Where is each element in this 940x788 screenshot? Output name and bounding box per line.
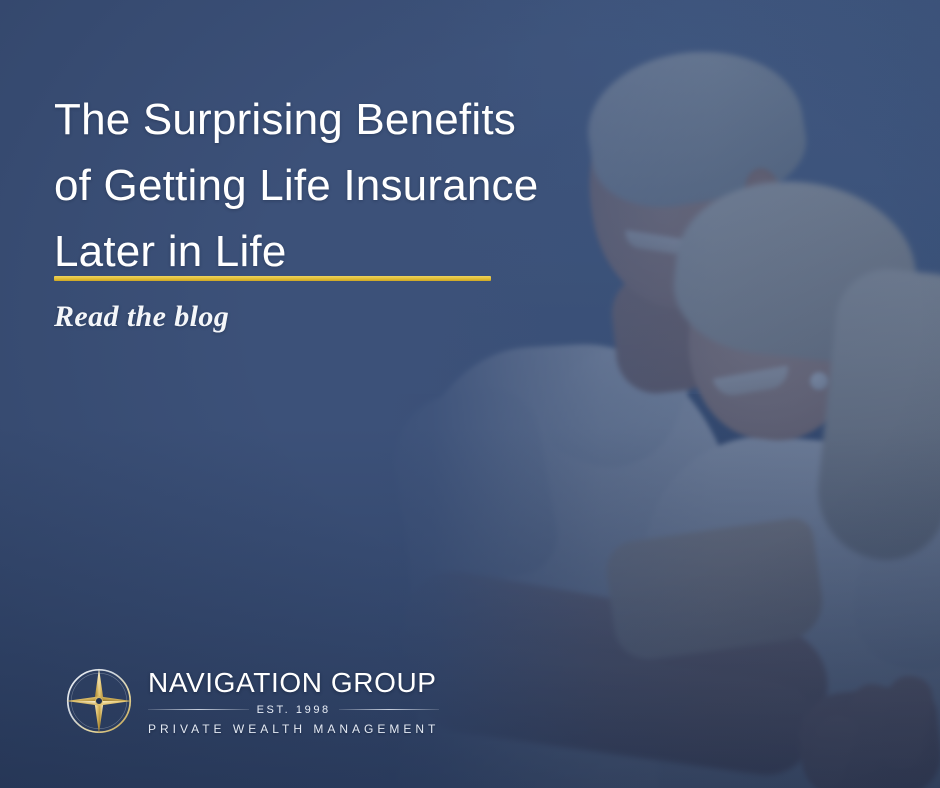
page-title: The Surprising Benefits of Getting Life … — [54, 87, 674, 285]
content-layer: The Surprising Benefits of Getting Life … — [0, 0, 940, 788]
gold-divider — [54, 276, 491, 281]
logo-wordmark: NAVIGATION GROUP EST. 1998 PRIVATE WEALT… — [148, 669, 439, 736]
compass-rose-icon — [60, 662, 138, 740]
logo-company-name: NAVIGATION GROUP — [148, 669, 439, 697]
logo-tagline: PRIVATE WEALTH MANAGEMENT — [148, 722, 439, 736]
logo-established: EST. 1998 — [257, 704, 331, 716]
read-the-blog-link[interactable]: Read the blog — [54, 300, 229, 334]
logo-rule-left — [148, 709, 249, 710]
headline-line-1: The Surprising Benefits — [54, 87, 674, 153]
logo-rule-right — [339, 709, 440, 710]
logo-established-row: EST. 1998 — [148, 704, 439, 716]
brand-logo[interactable]: NAVIGATION GROUP EST. 1998 PRIVATE WEALT… — [60, 662, 439, 740]
headline-line-2: of Getting Life Insurance — [54, 153, 674, 219]
social-graphic-canvas: The Surprising Benefits of Getting Life … — [0, 0, 940, 788]
